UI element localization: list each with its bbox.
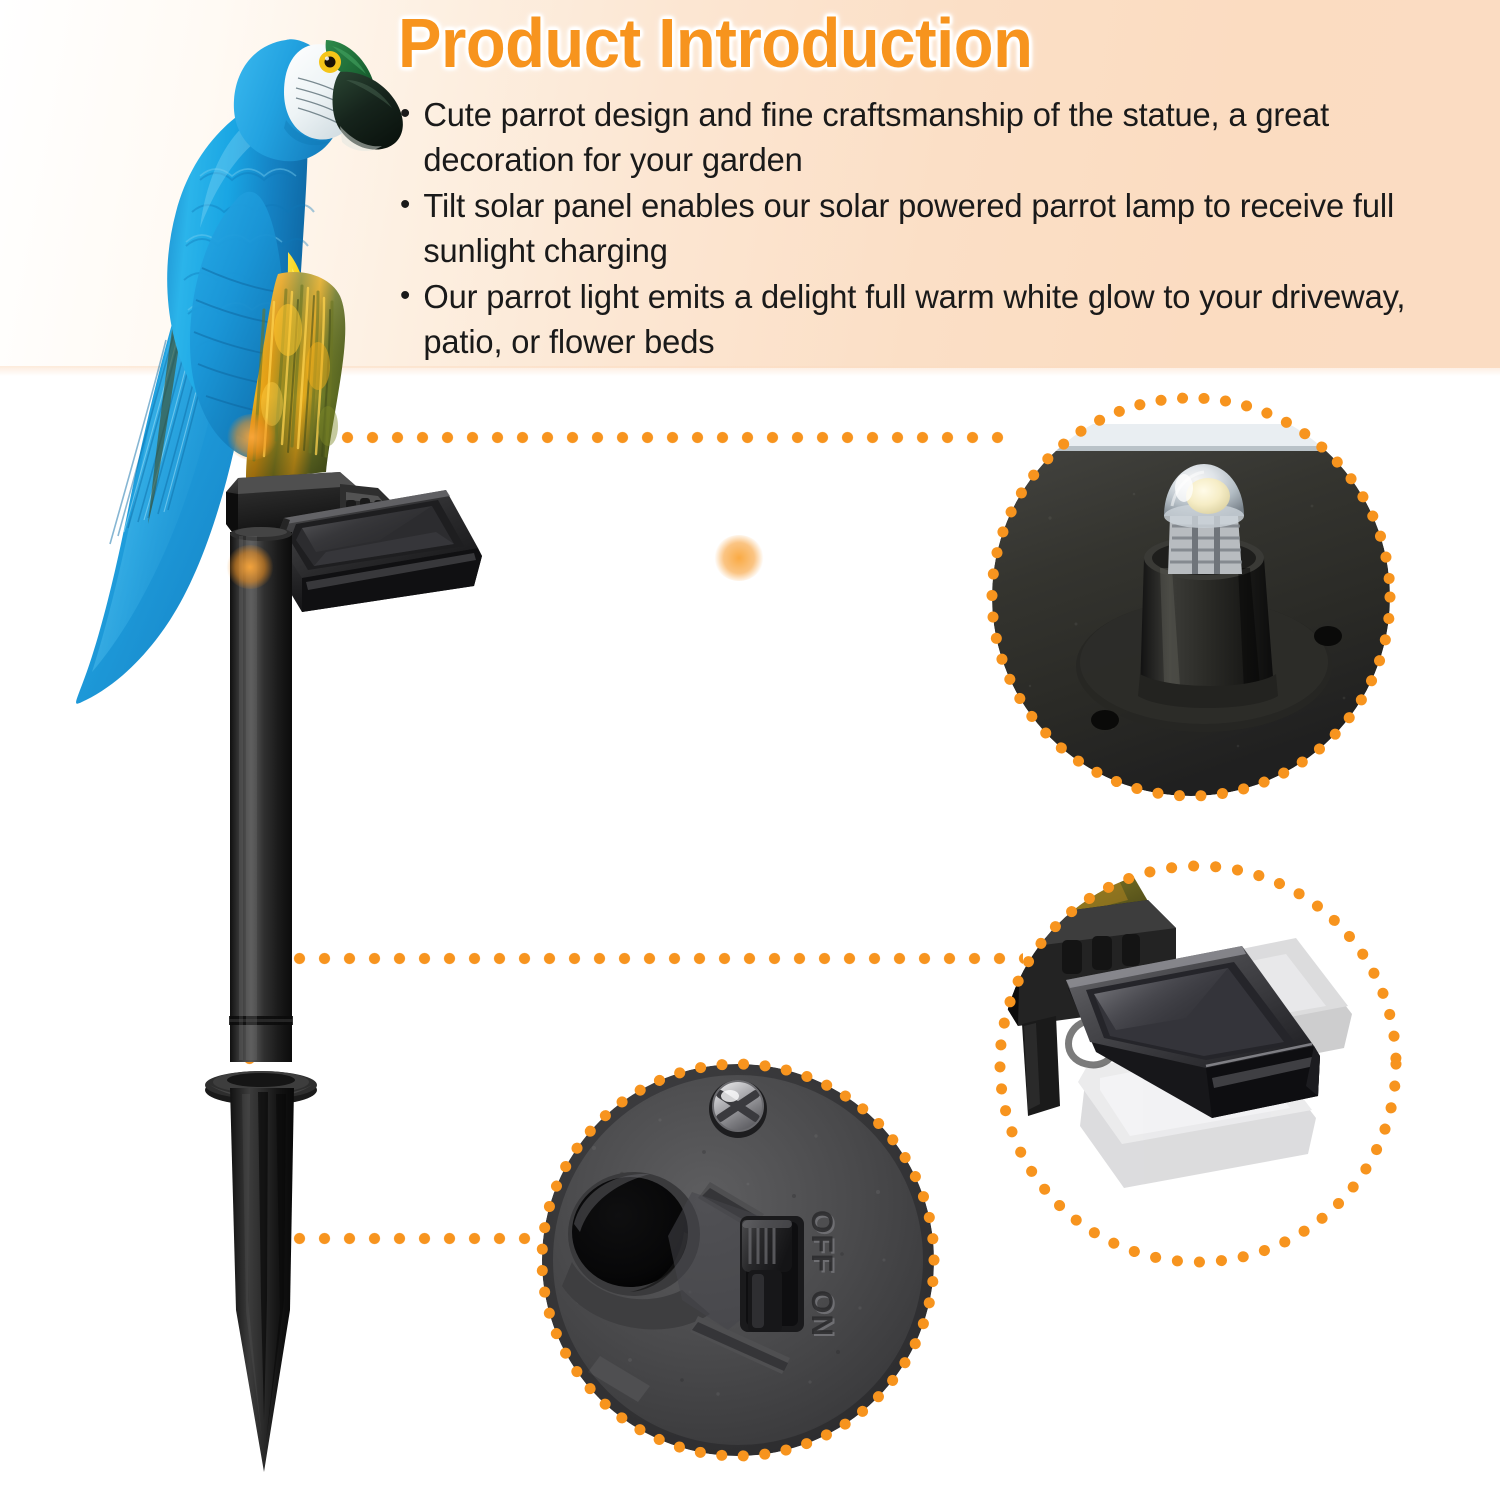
on-off-switch-callout: OFF ON OFF ON [542,1064,934,1456]
bullet-text: Our parrot light emits a delight full wa… [423,279,1405,361]
svg-text:ON: ON [805,1290,838,1337]
leader-glow-panel [714,535,764,581]
bullet-marker-icon: • [400,276,410,316]
stake-spike [230,1088,294,1472]
led-bulb-callout [992,398,1390,796]
intro-text-panel: Product Introduction • Cute parrot desig… [398,8,1486,367]
bullet-text: Cute parrot design and fine craftsmanshi… [423,97,1329,179]
list-item: • Cute parrot design and fine craftsmans… [398,94,1459,183]
stake-pole [229,527,293,1062]
page-title: Product Introduction [398,8,1410,78]
list-item: • Our parrot light emits a delight full … [398,276,1459,365]
product-infographic-stage: Product Introduction • Cute parrot desig… [0,0,1500,1500]
parrot-head [234,39,403,161]
bullet-marker-icon: • [400,185,410,225]
bullet-text: Tilt solar panel enables our solar power… [423,188,1394,270]
svg-text:OFF: OFF [805,1210,838,1273]
list-item: • Tilt solar panel enables our solar pow… [398,185,1459,274]
feature-bullet-list: • Cute parrot design and fine craftsmans… [398,94,1486,365]
bullet-marker-icon: • [400,94,410,134]
tilt-solar-panel-callout [1000,866,1396,1262]
